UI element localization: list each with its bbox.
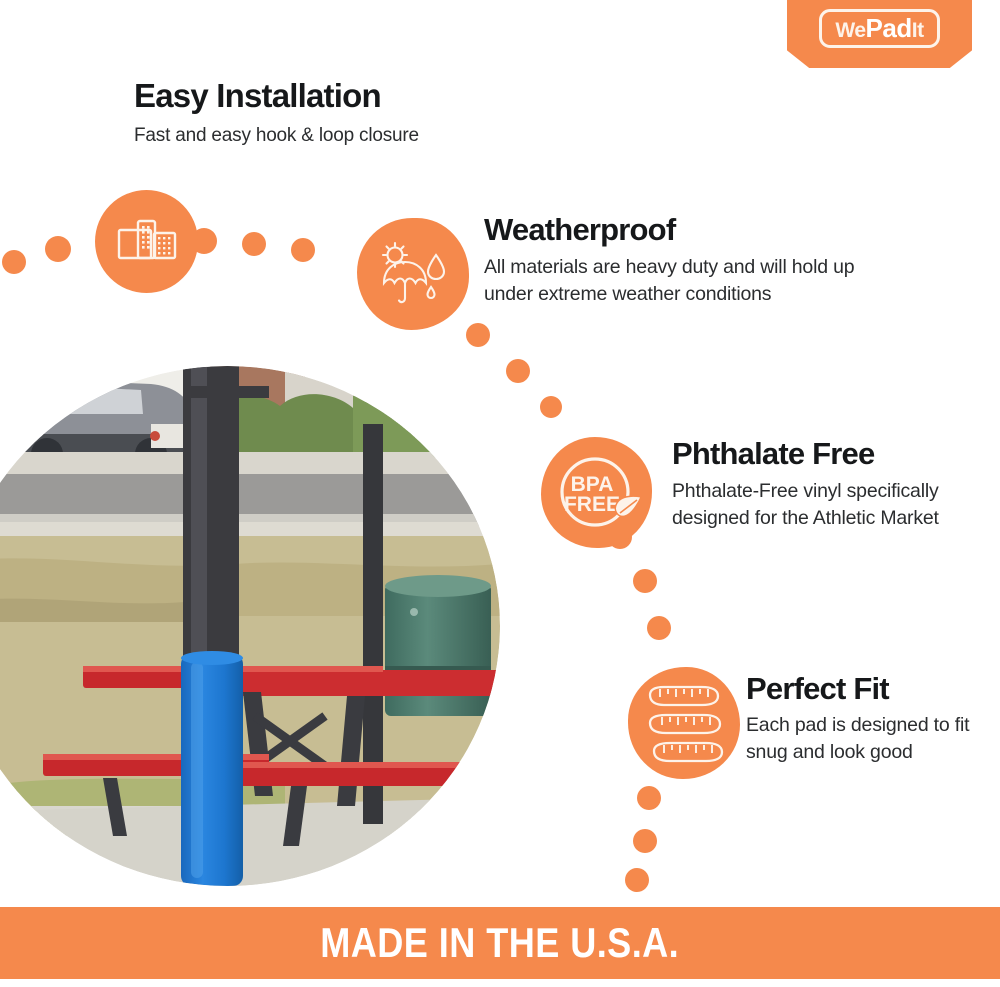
brand-logo-pad: Pad: [866, 15, 912, 41]
product-photo: [0, 366, 500, 886]
feature-title: Phthalate Free: [672, 437, 972, 470]
trail-dot: [540, 396, 562, 418]
feature-title: Easy Installation: [134, 78, 419, 114]
trail-dot: [633, 829, 657, 853]
svg-text:FREE: FREE: [563, 493, 619, 516]
brand-logo-frame: We Pad It: [819, 9, 939, 48]
made-in-usa-label: MADE IN THE U.S.A.: [321, 919, 680, 967]
made-in-usa-banner: MADE IN THE U.S.A.: [0, 907, 1000, 979]
hook-and-loop-icon: [95, 190, 198, 293]
trail-dot: [466, 323, 490, 347]
measuring-tape-icon: [628, 667, 740, 779]
feature-description: Fast and easy hook & loop closure: [134, 123, 419, 148]
trail-dot: [633, 569, 657, 593]
feature-description: All materials are heavy duty and will ho…: [484, 254, 904, 306]
feature-easy-installation: Easy Installation Fast and easy hook & l…: [134, 78, 419, 148]
product-photo-scene: [0, 366, 500, 886]
bpa-free-leaf-icon: BPA FREE: [541, 437, 652, 548]
feature-weatherproof: Weatherproof All materials are heavy dut…: [484, 213, 904, 307]
trail-dot: [506, 359, 530, 383]
trail-dot: [625, 868, 649, 892]
sun-umbrella-rain-icon: [357, 218, 469, 330]
trail-dot: [647, 616, 671, 640]
trail-dot: [45, 236, 71, 262]
trail-dot: [2, 250, 26, 274]
trail-dot: [637, 786, 661, 810]
feature-phthalate-free: Phthalate Free Phthalate-Free vinyl spec…: [672, 437, 972, 531]
feature-description: Each pad is designed to fit snug and loo…: [746, 712, 981, 764]
brand-logo-it: It: [912, 20, 924, 41]
trail-dot: [242, 232, 266, 256]
feature-title: Weatherproof: [484, 213, 904, 246]
feature-perfect-fit: Perfect Fit Each pad is designed to fit …: [746, 672, 981, 765]
feature-title: Perfect Fit: [746, 672, 981, 705]
brand-logo-we: We: [835, 20, 865, 41]
feature-description: Phthalate-Free vinyl specifically design…: [672, 478, 972, 530]
brand-logo: We Pad It: [787, 0, 972, 68]
trail-dot: [291, 238, 315, 262]
